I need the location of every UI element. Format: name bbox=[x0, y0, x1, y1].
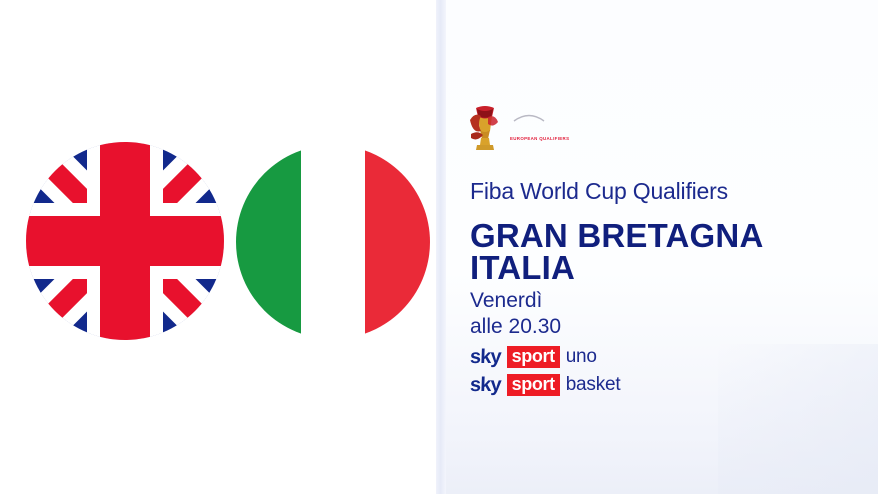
italy-band-white bbox=[301, 145, 366, 339]
channel-suffix-label: basket bbox=[566, 374, 621, 396]
schedule-time: alle 20.30 bbox=[470, 314, 561, 340]
channel-sky-sport-uno: sky sport uno bbox=[470, 345, 620, 369]
channels-list: sky sport uno sky sport basket bbox=[470, 345, 620, 401]
trophy-icon bbox=[468, 104, 502, 154]
sky-brand-label: sky bbox=[470, 346, 501, 369]
promo-graphic: EUROPEAN QUALIFIERS Fiba World Cup Quali… bbox=[0, 0, 878, 494]
sport-badge: sport bbox=[507, 346, 560, 368]
flag-italy bbox=[236, 145, 430, 339]
schedule-day: Venerdì bbox=[470, 288, 561, 314]
qualifiers-arc-icon bbox=[512, 109, 546, 123]
logo-caption: EUROPEAN QUALIFIERS bbox=[510, 136, 569, 141]
info-panel: EUROPEAN QUALIFIERS Fiba World Cup Quali… bbox=[446, 0, 878, 494]
flags-panel bbox=[0, 0, 436, 494]
sport-badge: sport bbox=[507, 374, 560, 396]
channel-sky-sport-basket: sky sport basket bbox=[470, 373, 620, 397]
channel-suffix-label: uno bbox=[566, 346, 597, 368]
sky-brand-label: sky bbox=[470, 374, 501, 397]
italy-band-red bbox=[365, 145, 430, 339]
team-home-label: GRAN BRETAGNA bbox=[470, 220, 763, 252]
uk-flag-field bbox=[26, 142, 224, 340]
flag-united-kingdom bbox=[26, 142, 224, 340]
fiba-european-qualifiers-logo: EUROPEAN QUALIFIERS bbox=[468, 104, 588, 156]
schedule-block: Venerdì alle 20.30 bbox=[470, 288, 561, 339]
panel-divider bbox=[436, 0, 446, 494]
match-title: GRAN BRETAGNA ITALIA bbox=[470, 220, 763, 284]
competition-title: Fiba World Cup Qualifiers bbox=[470, 178, 728, 205]
italy-band-green bbox=[236, 145, 301, 339]
uk-cross-red-horizontal bbox=[26, 216, 224, 266]
team-away-label: ITALIA bbox=[470, 252, 763, 284]
